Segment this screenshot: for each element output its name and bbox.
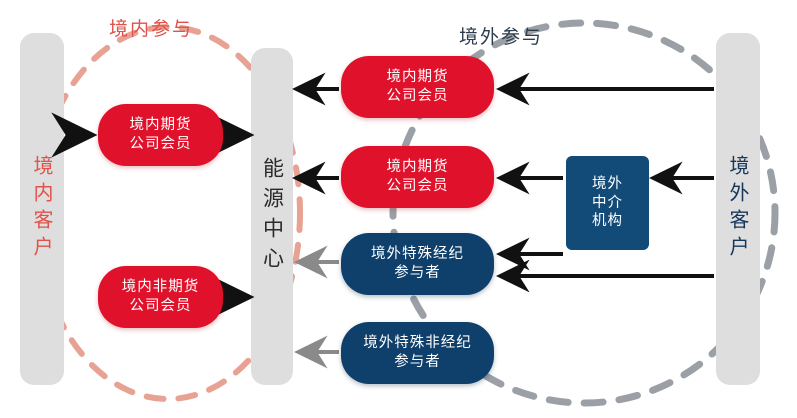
diagram-canvas: 境内参与 境外参与: [0, 0, 797, 418]
node-overseas-special-nonbroker: 境外特殊非经纪 参与者: [341, 322, 494, 384]
node-line-2: 参与者: [394, 264, 441, 283]
overseas-participation-label: 境外参与: [459, 22, 543, 49]
domestic-participation-label: 境内参与: [109, 14, 193, 41]
node-line-1: 境内期货: [387, 158, 449, 177]
node-line-2: 公司会员: [387, 87, 449, 106]
node-line-1: 境内非期货: [122, 278, 200, 297]
node-line-3: 机构: [592, 212, 623, 231]
node-line-1: 境内期货: [387, 68, 449, 87]
node-line-2: 公司会员: [130, 135, 192, 154]
node-domestic-nonfutures-member: 境内非期货 公司会员: [98, 266, 223, 328]
node-overseas-intermediary: 境外 中介 机构: [566, 156, 649, 250]
node-line-2: 公司会员: [387, 177, 449, 196]
node-domestic-futures-member-left: 境内期货 公司会员: [98, 104, 223, 166]
node-line-1: 境外特殊非经纪: [363, 334, 472, 353]
node-line-2: 中介: [592, 194, 623, 213]
node-overseas-special-broker: 境外特殊经纪 参与者: [341, 233, 494, 295]
node-domestic-futures-member-mid: 境内期货 公司会员: [341, 146, 494, 208]
node-domestic-futures-member-top: 境内期货 公司会员: [341, 56, 494, 118]
node-line-1: 境外: [592, 175, 623, 194]
node-line-2: 公司会员: [130, 297, 192, 316]
node-line-1: 境外特殊经纪: [371, 245, 464, 264]
node-line-1: 境内期货: [130, 116, 192, 135]
node-line-2: 参与者: [394, 353, 441, 372]
